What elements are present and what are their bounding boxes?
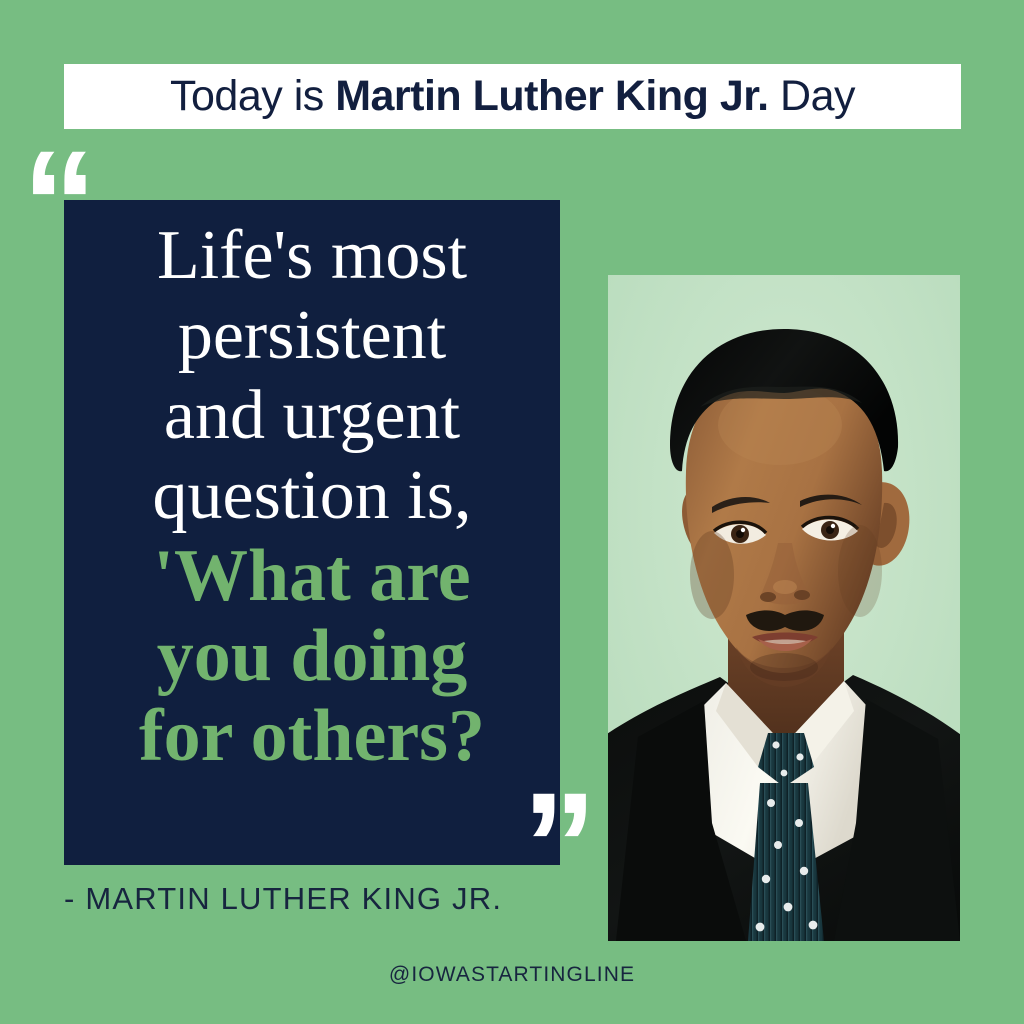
quote-card: Life's most persistent and urgent questi… xyxy=(64,200,560,865)
quote-line-accent: for others? xyxy=(64,696,560,776)
poster-canvas: Today is Martin Luther King Jr. Day Life… xyxy=(0,0,1024,1024)
quote-line-accent: you doing xyxy=(64,616,560,696)
social-handle: @IOWASTARTINGLINE xyxy=(0,963,1024,987)
open-quotation-mark-icon: “ xyxy=(22,128,97,278)
header-emphasis: Martin Luther King Jr. xyxy=(335,72,768,120)
header-suffix: Day xyxy=(769,72,855,120)
quote-line: question is, xyxy=(64,456,560,536)
header-banner: Today is Martin Luther King Jr. Day xyxy=(64,64,961,129)
header-prefix: Today is xyxy=(170,72,335,120)
page-title: Today is Martin Luther King Jr. Day xyxy=(170,75,855,118)
quote-line: and urgent xyxy=(64,376,560,456)
close-quotation-mark-icon: ” xyxy=(522,770,597,920)
portrait-photo xyxy=(608,275,960,941)
portrait-illustration xyxy=(608,275,960,941)
quote-text: Life's most persistent and urgent questi… xyxy=(64,216,560,776)
quote-line: persistent xyxy=(64,296,560,376)
quote-attribution: - MARTIN LUTHER KING JR. xyxy=(64,881,502,917)
quote-line: Life's most xyxy=(64,216,560,296)
quote-line-accent: 'What are xyxy=(64,536,560,616)
